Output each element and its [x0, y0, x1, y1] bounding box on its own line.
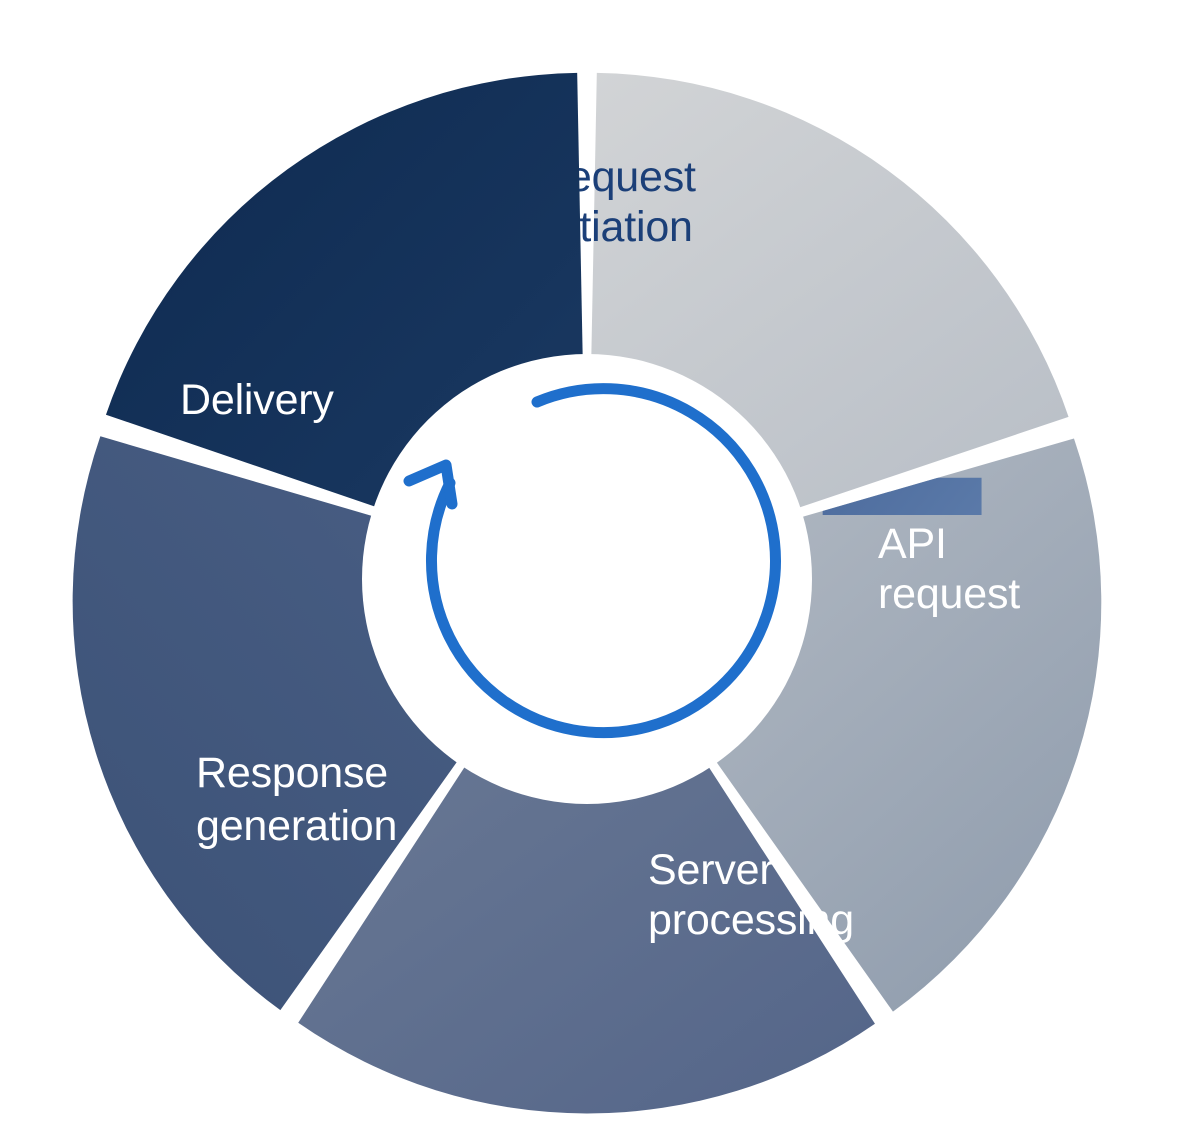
- segment-4-label-line1: Response: [196, 749, 388, 797]
- segment-3-label-line1: Server: [648, 846, 773, 894]
- segment-3-label-line2: processing: [648, 896, 854, 944]
- segment-2-label-line1: API: [878, 520, 947, 568]
- cycle-diagram: 1 Request initiation 2 API request 3: [0, 0, 1178, 1132]
- wheel-segments: 1 Request initiation 2 API request 3: [55, 73, 1101, 1132]
- cycle-wheel-svg: 1 Request initiation 2 API request 3: [0, 0, 1178, 1132]
- segment-5-label-line1: Delivery: [180, 376, 334, 424]
- segment-2-label-line2: request: [878, 570, 1020, 618]
- segment-4-label-line2: generation: [196, 802, 397, 850]
